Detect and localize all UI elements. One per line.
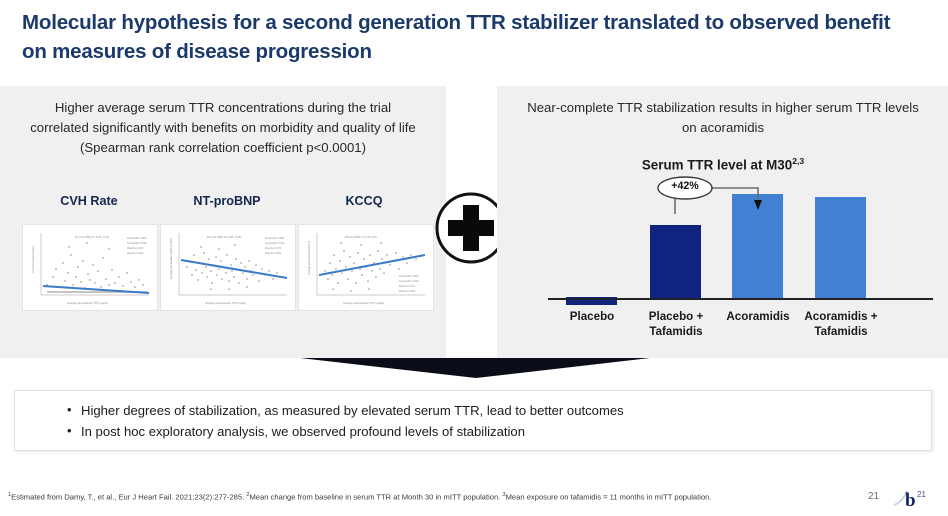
page-title: Molecular hypothesis for a second genera… (22, 8, 912, 66)
bar-placebo-stub (566, 300, 617, 305)
svg-text:R=-0.31 (95% CI -0.38, -0.23): R=-0.31 (95% CI -0.38, -0.23) (207, 235, 241, 239)
svg-text:R=-0.22 (95% CI -0.30, -0.14): R=-0.22 (95% CI -0.30, -0.14) (75, 235, 109, 239)
svg-text:Average post-baseline log(NT-p: Average post-baseline log(NT-proBNP) (170, 237, 173, 279)
scatter-plot-nt-probnp: R=-0.31 (95% CI -0.38, -0.23) Average po… (160, 224, 296, 311)
svg-text:Placebo n=Obs: Placebo n=Obs (399, 290, 416, 293)
summary-bullet-2-text: In post hoc exploratory analysis, we obs… (81, 424, 525, 439)
chart-heading-superscript: 2,3 (792, 156, 804, 166)
svg-text:b: b (905, 490, 916, 510)
scatter-plot-kccq: R=0.24 (95% CI 0.16, 0.32) Average post-… (298, 224, 434, 311)
category-label-acoramidis: Acoramidis (720, 309, 796, 324)
svg-text:Average post-baseline TTR (mg/: Average post-baseline TTR (mg/dL) (67, 301, 108, 305)
svg-text:Acoramidis n=Obs: Acoramidis n=Obs (399, 280, 419, 283)
svg-text:Average post-baseline TTR (mg/: Average post-baseline TTR (mg/dL) (343, 301, 384, 305)
serum-ttr-bar-chart: +42% Placebo Placebo + Tafamidis Acorami… (540, 178, 940, 328)
svg-text:Placebo n=Obs: Placebo n=Obs (265, 252, 282, 255)
svg-text:Acoramidis n=500: Acoramidis n=500 (127, 237, 147, 240)
footnote: 1Estimated from Damy, T., et al., Eur J … (8, 492, 848, 502)
svg-text:Acoramidis n=500: Acoramidis n=500 (265, 237, 285, 240)
svg-text:Placebo n=270: Placebo n=270 (127, 247, 144, 250)
bar-placebo-tafamidis (650, 225, 701, 298)
category-label-acoramidis-tafamidis: Acoramidis + Tafamidis (803, 309, 879, 339)
summary-bullet-1: • Higher degrees of stabilization, as me… (81, 403, 624, 418)
svg-text:Placebo n=270: Placebo n=270 (399, 285, 416, 288)
svg-text:Placebo n=270: Placebo n=270 (265, 247, 282, 250)
svg-text:CVH rate (events/year): CVH rate (events/year) (31, 246, 35, 273)
mini-chart-title-nt-probnp: NT-proBNP (160, 194, 294, 208)
mini-chart-title-kccq: KCCQ (300, 194, 428, 208)
down-arrow-shape (300, 356, 650, 380)
company-logo: b 21 (893, 486, 937, 510)
footnote-text-1: Estimated from Damy, T., et al., Eur J H… (11, 493, 246, 502)
svg-text:Acoramidis n=Obs: Acoramidis n=Obs (127, 242, 147, 245)
bullet-glyph: • (67, 423, 72, 438)
page-number: 21 (868, 491, 879, 502)
right-panel-caption: Near-complete TTR stabilization results … (524, 98, 922, 138)
category-label-placebo-tafamidis: Placebo + Tafamidis (638, 309, 714, 339)
svg-text:Placebo n=Obs: Placebo n=Obs (127, 252, 144, 255)
chart-category-labels: Placebo Placebo + Tafamidis Acoramidis A… (540, 309, 940, 349)
svg-text:21: 21 (917, 490, 926, 499)
footnote-text-2: Mean change from baseline in serum TTR a… (249, 493, 502, 502)
mini-chart-title-cvh-rate: CVH Rate (27, 194, 151, 208)
left-panel-caption: Higher average serum TTR concentrations … (24, 98, 422, 158)
svg-text:R=0.24 (95% CI 0.16, 0.32): R=0.24 (95% CI 0.16, 0.32) (345, 235, 377, 239)
summary-box: • Higher degrees of stabilization, as me… (14, 390, 932, 451)
footnote-text-3: Mean exposure on tafamidis = 11 months i… (506, 493, 712, 502)
summary-bullet-1-text: Higher degrees of stabilization, as meas… (81, 403, 624, 418)
percent-change-label: +42% (659, 180, 711, 192)
svg-text:Acoramidis n=Obs: Acoramidis n=Obs (265, 242, 285, 245)
category-label-placebo: Placebo (554, 309, 630, 324)
scatter-plot-cvh-rate: R=-0.22 (95% CI -0.30, -0.14) Average po… (22, 224, 158, 311)
bullet-glyph: • (67, 402, 72, 417)
svg-text:Average post-baseline TTR (mg/: Average post-baseline TTR (mg/dL) (205, 301, 246, 305)
percent-change-callout: +42% (540, 168, 940, 228)
summary-bullet-2: • In post hoc exploratory analysis, we o… (81, 424, 525, 439)
svg-text:Average post-baseline KCCQ: Average post-baseline KCCQ (307, 241, 311, 275)
svg-text:Acoramidis n=500: Acoramidis n=500 (399, 275, 419, 278)
